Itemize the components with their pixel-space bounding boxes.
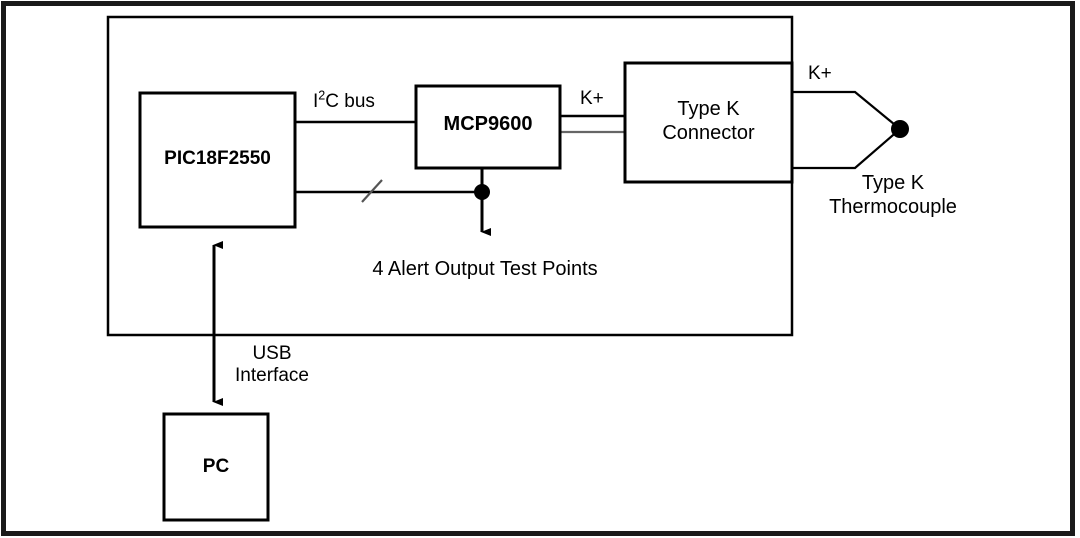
diagram-canvas: PIC18F2550 MCP9600 Type KConnector PC I2… xyxy=(0,0,1080,538)
label-type-k-thermocouple: Type KThermocouple xyxy=(793,172,993,219)
wire-connector-to-thermocouple-lower xyxy=(792,129,900,168)
connector-line-1: Type K xyxy=(677,98,739,120)
block-pic18f2550-label: PIC18F2550 xyxy=(140,148,295,170)
i2c-suffix: C bus xyxy=(325,91,375,112)
usb-line-2: Interface xyxy=(235,365,309,386)
block-type-k-connector-label: Type KConnector xyxy=(625,98,792,145)
label-usb-interface: USBInterface xyxy=(202,343,342,388)
label-alert-output-test-points: 4 Alert Output Test Points xyxy=(285,258,685,282)
wire-connector-to-thermocouple-upper xyxy=(792,92,900,129)
junction-dot-alert xyxy=(474,184,490,200)
thermocouple-line-1: Type K xyxy=(862,172,924,194)
thermocouple-line-2: Thermocouple xyxy=(829,196,957,218)
label-i2c-bus: I2C bus xyxy=(313,91,375,113)
junction-dot-thermocouple xyxy=(891,120,909,138)
label-k-plus-mcp-side: K+ xyxy=(580,88,604,110)
block-mcp9600-label: MCP9600 xyxy=(416,113,560,137)
block-pc-label: PC xyxy=(164,456,268,478)
usb-line-1: USB xyxy=(252,343,291,364)
connector-line-2: Connector xyxy=(662,122,754,144)
label-k-plus-thermocouple-side: K+ xyxy=(808,63,832,85)
